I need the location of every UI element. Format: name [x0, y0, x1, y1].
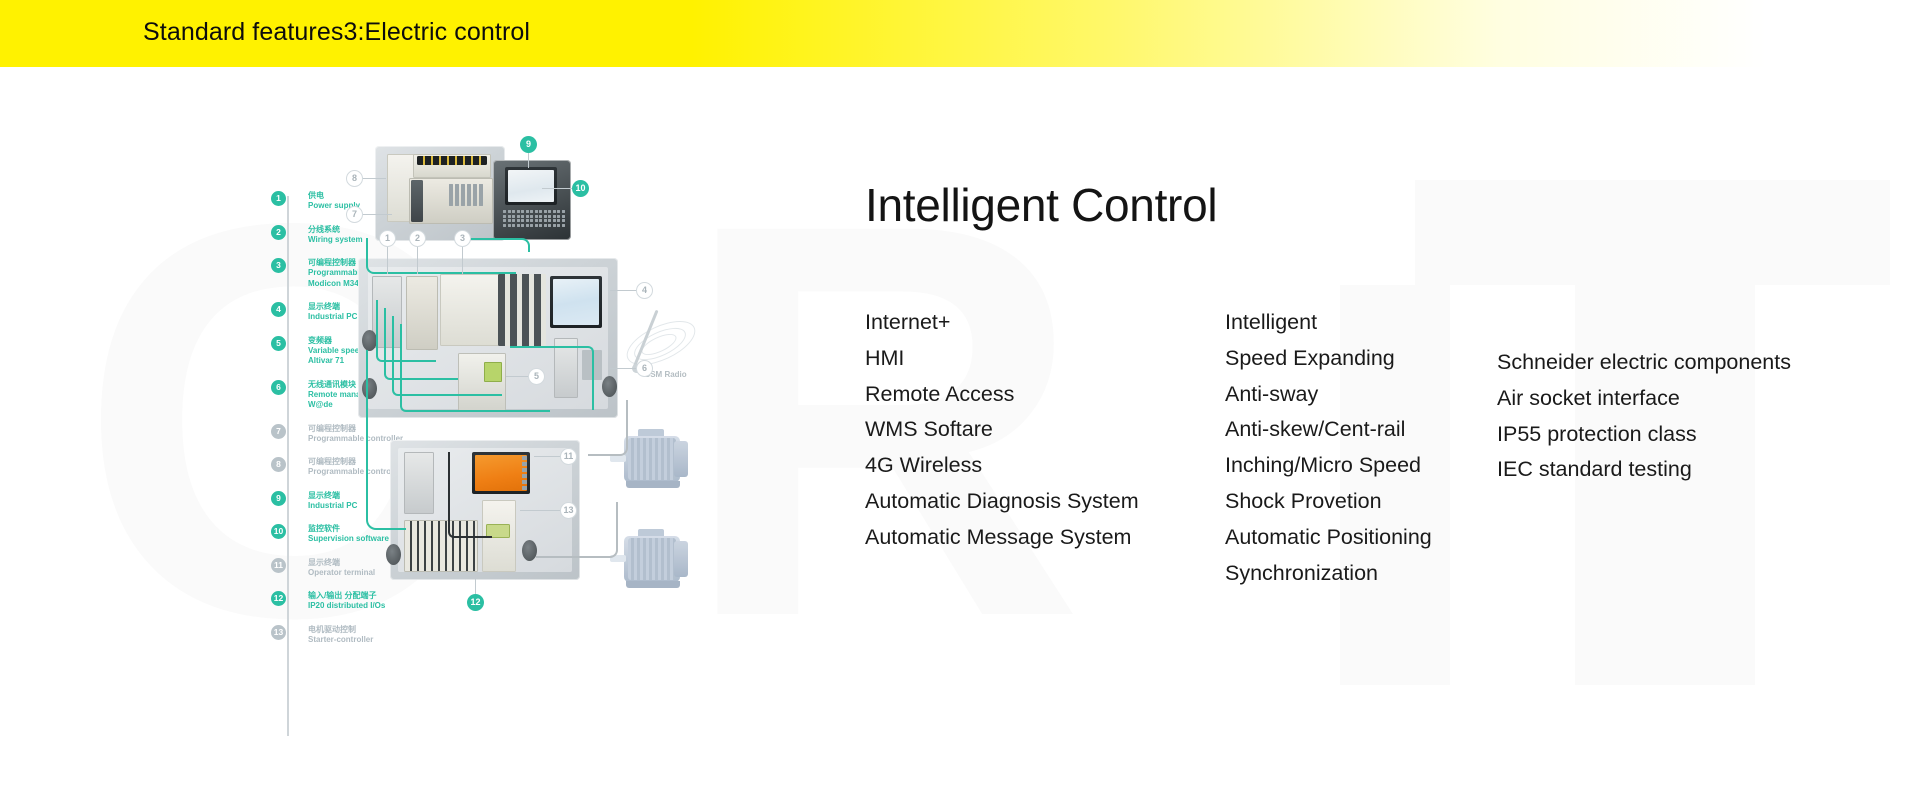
industrial-pc-keypad: [503, 210, 565, 227]
plc-cpu-7: [411, 180, 423, 222]
callout-line-10: [542, 188, 572, 189]
legend-number-badge: 6: [271, 380, 286, 395]
callout-line-9: [528, 152, 529, 168]
feature-item: IEC standard testing: [1497, 452, 1791, 488]
motor-upper-foot: [626, 481, 680, 488]
cabinet-top: [375, 146, 505, 241]
callout-9[interactable]: 9: [520, 136, 537, 153]
legend-number-badge: 12: [271, 591, 286, 606]
callout-line-1: [387, 246, 388, 274]
legend-label-en: IP20 distributed I/Os: [308, 601, 480, 612]
callout-line-2: [417, 246, 418, 274]
cable-grommet-5: [522, 540, 537, 561]
legend-number-badge: 2: [271, 225, 286, 240]
wire-motor-upper: [588, 400, 628, 456]
legend-label-cn: 电机驱动控制: [308, 624, 480, 635]
feature-item: Anti-sway: [1225, 377, 1432, 413]
callout-line-7: [360, 214, 392, 215]
callout-line-6: [610, 368, 636, 369]
callout-line-12: [475, 578, 476, 594]
wire-cabinet-drop: [366, 350, 406, 530]
plc-slot-strip: [417, 156, 487, 165]
legend-number-badge: 8: [271, 457, 286, 472]
legend-number-badge: 5: [271, 336, 286, 351]
feature-item: Intelligent: [1225, 305, 1432, 341]
header-banner: Standard features3:Electric control: [0, 0, 1920, 67]
callout-2[interactable]: 2: [409, 230, 426, 247]
feature-item: Automatic Positioning: [1225, 520, 1432, 556]
feature-item: Synchronization: [1225, 556, 1432, 592]
motor-upper-cap: [674, 441, 688, 477]
callout-8[interactable]: 8: [346, 170, 363, 187]
callout-13[interactable]: 13: [560, 502, 577, 519]
motor-lower: [608, 528, 694, 590]
legend-item-13[interactable]: 13电机驱动控制Starter-controller: [280, 624, 480, 646]
feature-item: 4G Wireless: [865, 448, 1139, 484]
wire-terminal-black: [448, 452, 492, 538]
motor-upper-shaft: [610, 455, 626, 462]
legend-number-badge: 9: [271, 491, 286, 506]
callout-4[interactable]: 4: [636, 282, 653, 299]
page-title: Standard features3:Electric control: [143, 18, 530, 47]
slide-root: C R Standard features3:Electric control …: [0, 0, 1920, 800]
legend-number-badge: 7: [271, 424, 286, 439]
feature-item: Automatic Message System: [865, 520, 1139, 556]
legend-number-badge: 4: [271, 302, 286, 317]
legend-item-12[interactable]: 12输入/输出 分配端子IP20 distributed I/Os: [280, 590, 480, 612]
motor-lower-foot: [626, 581, 680, 588]
industrial-pc-4: [550, 276, 602, 328]
feature-item: Automatic Diagnosis System: [865, 484, 1139, 520]
content-panel: Intelligent Control: [865, 180, 1875, 232]
feature-item: Anti-skew/Cent-rail: [1225, 412, 1432, 448]
cable-grommet-4: [386, 544, 401, 565]
callout-line-4: [610, 290, 636, 291]
starter-controller-unit: [404, 452, 434, 514]
feature-item: Internet+: [865, 305, 1139, 341]
callout-10[interactable]: 10: [572, 180, 589, 197]
feature-item: Speed Expanding: [1225, 341, 1432, 377]
callout-7[interactable]: 7: [346, 206, 363, 223]
feature-column-1: Internet+HMIRemote AccessWMS Softare4G W…: [865, 305, 1139, 556]
callout-line-11: [534, 456, 560, 457]
feature-item: HMI: [865, 341, 1139, 377]
legend-number-badge: 10: [271, 524, 286, 539]
industrial-pc-9: [493, 160, 571, 240]
legend-number-badge: 3: [271, 258, 286, 273]
cable-grommet-3: [602, 376, 617, 397]
feature-column-3: Schneider electric componentsAir socket …: [1497, 345, 1791, 488]
feature-item: WMS Softare: [865, 412, 1139, 448]
feature-item: Shock Provetion: [1225, 484, 1432, 520]
motor-lower-cap: [674, 541, 688, 577]
legend-label-en: Starter-controller: [308, 635, 480, 646]
feature-item: Inching/Micro Speed: [1225, 448, 1432, 484]
motor-lower-ribs: [628, 538, 676, 580]
operator-terminal-keys: [522, 456, 527, 490]
feature-item: Air socket interface: [1497, 381, 1791, 417]
electric-control-diagram: 1供电Power supply2分线系统Wiring system3可编程控制器…: [190, 150, 870, 730]
plc-module-dots: [449, 184, 483, 206]
legend-number-badge: 13: [271, 625, 286, 640]
callout-line-5: [506, 376, 528, 377]
legend-number-badge: 11: [271, 558, 286, 573]
motor-upper-ribs: [628, 438, 676, 480]
callout-3[interactable]: 3: [454, 230, 471, 247]
feature-column-2: IntelligentSpeed ExpandingAnti-swayAnti-…: [1225, 305, 1432, 591]
callout-6[interactable]: 6: [636, 360, 653, 377]
pc-screen-content: [508, 170, 554, 202]
hmi-4-screen-content: [553, 279, 599, 325]
callout-12[interactable]: 12: [467, 594, 484, 611]
wire-module6-link: [510, 346, 594, 410]
callout-line-3: [462, 246, 463, 274]
callout-line-13: [520, 510, 560, 511]
legend-label-cn: 输入/输出 分配端子: [308, 590, 480, 601]
feature-item: Schneider electric components: [1497, 345, 1791, 381]
feature-item: Remote Access: [865, 377, 1139, 413]
legend-number-badge: 1: [271, 191, 286, 206]
cable-grommet-1: [362, 330, 377, 351]
callout-line-8: [360, 178, 386, 179]
gsm-antenna: GSM Radio: [618, 308, 708, 388]
feature-item: IP55 protection class: [1497, 417, 1791, 453]
industrial-pc-screen: [505, 167, 557, 205]
callout-1[interactable]: 1: [379, 230, 396, 247]
main-heading: Intelligent Control: [865, 180, 1875, 232]
callout-11[interactable]: 11: [560, 448, 577, 465]
callout-5[interactable]: 5: [528, 368, 545, 385]
